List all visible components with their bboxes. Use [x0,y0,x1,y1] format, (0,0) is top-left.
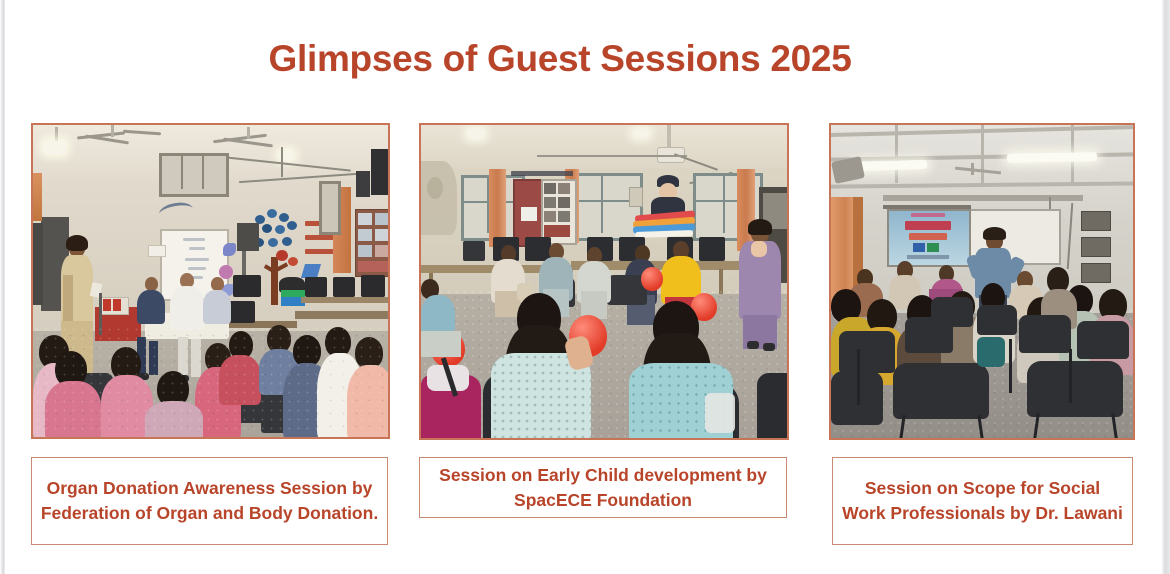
slide-right-edge [1162,0,1170,574]
presentation-slide: Glimpses of Guest Sessions 2025 [0,0,1170,574]
session-caption-text: Session on Scope for Social Work Profess… [841,476,1124,526]
session-caption-text: Organ Donation Awareness Session by Fede… [40,476,379,526]
page-title: Glimpses of Guest Sessions 2025 [0,38,1120,80]
session-photo-social-work-scope [829,123,1135,440]
session-photo-organ-donation [31,123,390,439]
session-caption-text: Session on Early Child development by Sp… [428,463,778,513]
session-photo-early-child-development [419,123,789,440]
session-caption-box-social-work-scope: Session on Scope for Social Work Profess… [832,457,1133,545]
slide-left-edge [0,0,5,574]
session-caption-box-early-child-development: Session on Early Child development by Sp… [419,457,787,518]
session-caption-box-organ-donation: Organ Donation Awareness Session by Fede… [31,457,388,545]
